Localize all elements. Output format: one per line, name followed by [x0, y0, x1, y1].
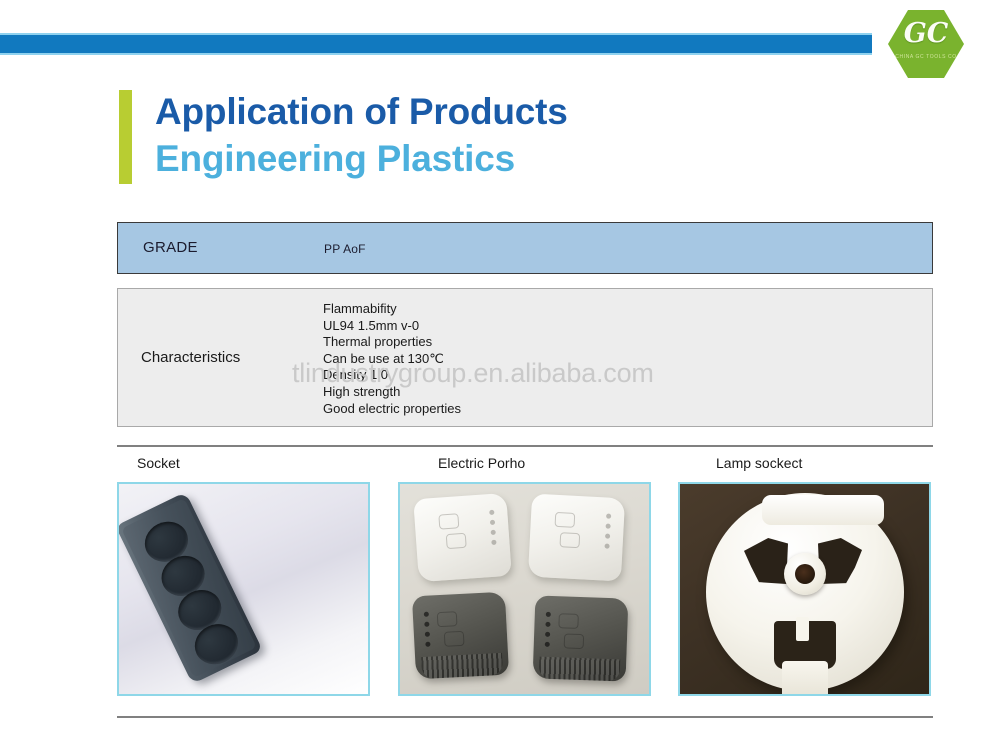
- title-line-primary: Application of Products: [155, 88, 568, 135]
- power-strip-face: [121, 498, 257, 678]
- plug-emboss: [558, 613, 579, 629]
- lamp-socket-center-hole: [795, 564, 815, 584]
- product-card: Electric Porho: [398, 455, 651, 696]
- plug-dot-row: [604, 514, 611, 556]
- characteristic-item: UL94 1.5mm v-0: [323, 318, 461, 335]
- characteristic-item: Good electric properties: [323, 401, 461, 418]
- plug-housing-white: [528, 494, 625, 582]
- product-card: Socket: [117, 455, 370, 696]
- lamp-socket-top-tab: [762, 495, 884, 525]
- characteristic-item: Flammabifity: [323, 301, 461, 318]
- grade-label: GRADE: [143, 239, 198, 256]
- plug-dot-row: [424, 612, 431, 654]
- plug-emboss: [437, 611, 458, 627]
- divider-above-gallery: [117, 445, 933, 447]
- product-caption: Lamp sockect: [716, 455, 931, 471]
- characteristic-item: High strength: [323, 384, 461, 401]
- plug-emboss: [559, 532, 580, 548]
- product-caption: Socket: [137, 455, 370, 471]
- grade-row: GRADE PP AoF: [117, 222, 933, 274]
- plug-emboss: [446, 533, 467, 549]
- product-gallery: Socket Electric Porho: [117, 455, 933, 705]
- page-title: Application of Products Engineering Plas…: [119, 90, 879, 186]
- lamp-socket-tongue: [796, 617, 809, 641]
- characteristics-list: Flammabifity UL94 1.5mm v-0 Thermal prop…: [323, 301, 461, 417]
- lamp-socket-slot: [744, 538, 788, 584]
- logo-tagline: CHINA GC TOOLS CO: [886, 54, 966, 60]
- plug-emboss: [555, 512, 576, 528]
- plug-housing-dark: [412, 592, 509, 680]
- plug-dot-row: [489, 510, 497, 552]
- plug-dot-row: [544, 612, 550, 654]
- product-caption: Electric Porho: [438, 455, 651, 471]
- plug-ridges: [539, 657, 621, 682]
- plug-emboss: [564, 633, 585, 649]
- socket-photo-image: [119, 484, 368, 694]
- characteristic-item: Density 1.0: [323, 367, 461, 384]
- plugs-photo-image: [400, 484, 649, 694]
- characteristics-row: Characteristics Flammabifity UL94 1.5mm …: [117, 288, 933, 427]
- plug-emboss: [438, 513, 459, 529]
- plug-ridges: [421, 653, 503, 679]
- lamp-socket-stem: [782, 661, 828, 696]
- lamp-socket-disc: [706, 493, 904, 691]
- top-blue-banner: [0, 33, 872, 55]
- title-line-secondary: Engineering Plastics: [155, 135, 568, 182]
- divider-below-gallery: [117, 716, 933, 718]
- lamp-socket-photo-image: [680, 484, 929, 694]
- plug-housing-dark: [533, 595, 629, 681]
- product-photo-socket: [117, 482, 370, 696]
- product-card: Lamp sockect: [678, 455, 931, 696]
- lamp-socket-hub: [784, 553, 826, 595]
- title-accent-bar: [119, 90, 132, 184]
- product-photo-lamp-socket: [678, 482, 931, 696]
- logo-mark-text: GC: [886, 20, 966, 47]
- plug-emboss: [444, 631, 465, 647]
- characteristic-item: Can be use at 130℃: [323, 351, 461, 368]
- title-lines: Application of Products Engineering Plas…: [155, 88, 568, 182]
- product-photo-electric-porho: [398, 482, 651, 696]
- grade-value: PP AoF: [324, 242, 366, 256]
- power-strip-body: [117, 492, 263, 684]
- plug-housing-white: [413, 493, 512, 582]
- characteristic-item: Thermal properties: [323, 334, 461, 351]
- characteristics-label: Characteristics: [141, 349, 240, 366]
- company-logo: GC CHINA GC TOOLS CO: [886, 8, 966, 80]
